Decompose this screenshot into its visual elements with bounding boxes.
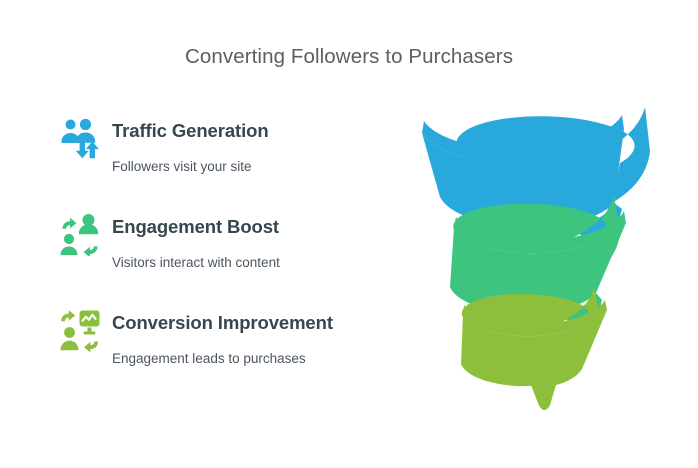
user-chart-refresh-icon [58,308,102,352]
infographic-canvas: Converting Followers to Purchasers Traff… [0,0,698,468]
step-item-traffic-generation[interactable]: Traffic Generation Followers visit your … [56,112,416,208]
page-title: Converting Followers to Purchasers [0,44,698,70]
step-heading: Traffic Generation [112,120,269,142]
step-subtitle: Engagement leads to purchases [112,351,306,366]
spiral-funnel-graphic [400,95,690,415]
step-heading: Engagement Boost [112,216,279,238]
step-subtitle: Visitors interact with content [112,255,280,270]
step-item-conversion-improvement[interactable]: Conversion Improvement Engagement leads … [56,304,416,400]
steps-list: Traffic Generation Followers visit your … [56,112,416,400]
funnel-segment-olive [461,287,607,410]
step-subtitle: Followers visit your site [112,159,252,174]
step-heading: Conversion Improvement [112,312,333,334]
users-traffic-arrows-icon [58,116,102,160]
users-exchange-arrows-icon [58,212,102,256]
step-item-engagement-boost[interactable]: Engagement Boost Visitors interact with … [56,208,416,304]
